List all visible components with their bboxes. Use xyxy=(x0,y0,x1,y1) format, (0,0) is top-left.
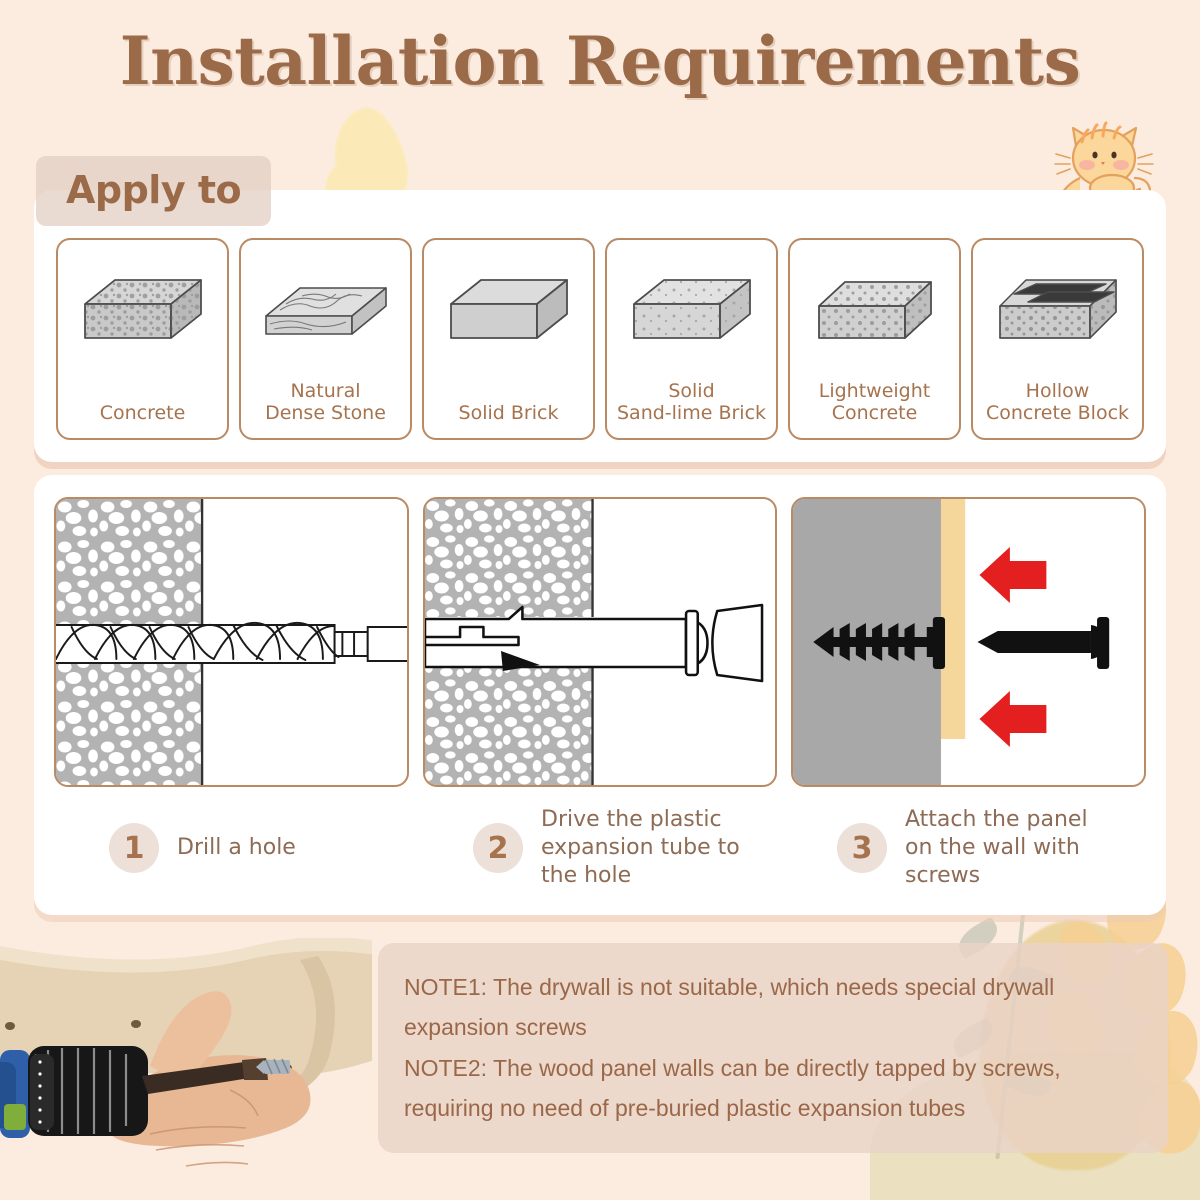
material-label: Concrete xyxy=(58,403,227,424)
material-card-list: Concrete Natura xyxy=(56,238,1144,440)
material-card-natural-dense-stone[interactable]: Natural Dense Stone xyxy=(239,238,412,440)
step-number-badge: 2 xyxy=(473,823,523,873)
plain-smooth-brick-icon xyxy=(443,260,575,356)
material-label-line2: Sand-lime Brick xyxy=(607,403,776,424)
step-number-badge: 3 xyxy=(837,823,887,873)
material-label: Solid Brick xyxy=(424,403,593,424)
step-text-line2: expansion tube to the hole xyxy=(541,834,782,890)
installation-photo xyxy=(0,938,372,1200)
material-label-line2: Concrete Block xyxy=(973,403,1142,424)
material-label-line2: Dense Stone xyxy=(241,403,410,424)
step-1-illustration[interactable] xyxy=(54,497,409,787)
step-text-line2: on the wall with screws xyxy=(905,834,1146,890)
step-text-line1: Drive the plastic xyxy=(541,806,782,834)
material-card-lightweight-concrete[interactable]: Lightweight Concrete xyxy=(788,238,961,440)
step-caption-list: 1 Drill a hole 2 Drive the plastic expan… xyxy=(54,803,1146,893)
material-label: Lightweight Concrete xyxy=(790,381,959,424)
material-label-line1: Lightweight xyxy=(790,381,959,402)
material-label: Hollow Concrete Block xyxy=(973,381,1142,424)
material-label-line1: Solid Brick xyxy=(424,403,593,424)
material-label-line1: Solid xyxy=(607,381,776,402)
step-2-illustration[interactable] xyxy=(423,497,778,787)
step-3-illustration[interactable] xyxy=(791,497,1146,787)
drill-and-hand-photo-illustration xyxy=(0,938,372,1200)
material-label-line1: Concrete xyxy=(58,403,227,424)
material-label-line2: Concrete xyxy=(790,403,959,424)
apply-to-panel: Concrete Natura xyxy=(34,190,1166,462)
step-caption-2: 2 Drive the plastic expansion tube to th… xyxy=(418,803,782,893)
step-text: Attach the panel on the wall with screws xyxy=(905,806,1146,890)
rough-stone-slab-icon xyxy=(260,260,392,356)
installation-steps-panel: 1 Drill a hole 2 Drive the plastic expan… xyxy=(34,475,1166,915)
material-card-hollow-concrete-block[interactable]: Hollow Concrete Block xyxy=(971,238,1144,440)
concrete-block-speckled-icon xyxy=(77,260,209,356)
step-text: Drill a hole xyxy=(177,834,296,862)
note-line: NOTE1: The drywall is not suitable, whic… xyxy=(404,969,1142,1006)
material-card-concrete[interactable]: Concrete xyxy=(56,238,229,440)
aerated-concrete-block-icon xyxy=(809,260,941,356)
material-label: Solid Sand-lime Brick xyxy=(607,381,776,424)
note-line: requiring no need of pre-buried plastic … xyxy=(404,1090,1142,1127)
light-speckled-brick-icon xyxy=(626,260,758,356)
step-text-line1: Attach the panel xyxy=(905,806,1146,834)
step-illustration-list xyxy=(54,497,1146,787)
hollow-core-block-icon xyxy=(992,260,1124,356)
step-text: Drive the plastic expansion tube to the … xyxy=(541,806,782,890)
note-line: NOTE2: The wood panel walls can be direc… xyxy=(404,1050,1142,1087)
apply-to-badge: Apply to xyxy=(36,156,271,226)
step-number-badge: 1 xyxy=(109,823,159,873)
material-card-solid-brick[interactable]: Solid Brick xyxy=(422,238,595,440)
step-text-line1: Drill a hole xyxy=(177,834,296,862)
page-title: Installation Requirements xyxy=(0,22,1200,100)
material-label: Natural Dense Stone xyxy=(241,381,410,424)
note-line: expansion screws xyxy=(404,1009,1142,1046)
material-label-line1: Hollow xyxy=(973,381,1142,402)
notes-panel: NOTE1: The drywall is not suitable, whic… xyxy=(378,943,1168,1153)
step-caption-1: 1 Drill a hole xyxy=(54,803,418,893)
step-caption-3: 3 Attach the panel on the wall with scre… xyxy=(782,803,1146,893)
material-card-solid-sand-lime-brick[interactable]: Solid Sand-lime Brick xyxy=(605,238,778,440)
material-label-line1: Natural xyxy=(241,381,410,402)
